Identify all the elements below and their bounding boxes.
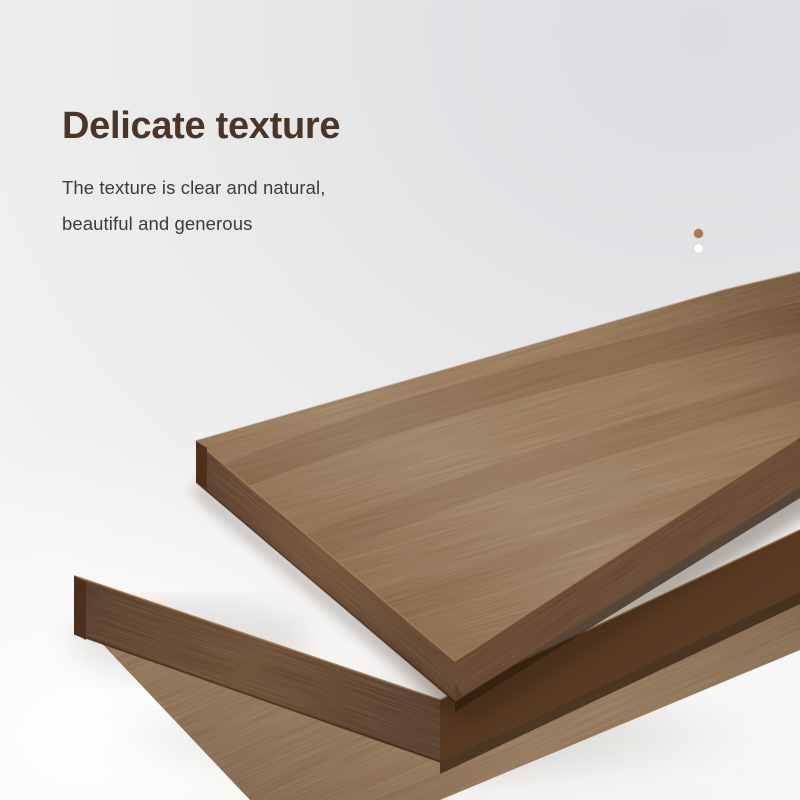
pagination-dots[interactable] [694,229,703,253]
page-subtitle-line-2: beautiful and generous [62,206,432,242]
headline-block: Delicate texture The texture is clear an… [62,106,582,242]
page-dot-1[interactable] [694,229,703,238]
page-title: Delicate texture [62,106,582,146]
page-dot-2[interactable] [694,244,703,253]
product-banner: Delicate texture The texture is clear an… [0,0,800,800]
page-subtitle-line-1: The texture is clear and natural, [62,170,432,206]
page-subtitle: The texture is clear and natural, beauti… [62,170,432,242]
